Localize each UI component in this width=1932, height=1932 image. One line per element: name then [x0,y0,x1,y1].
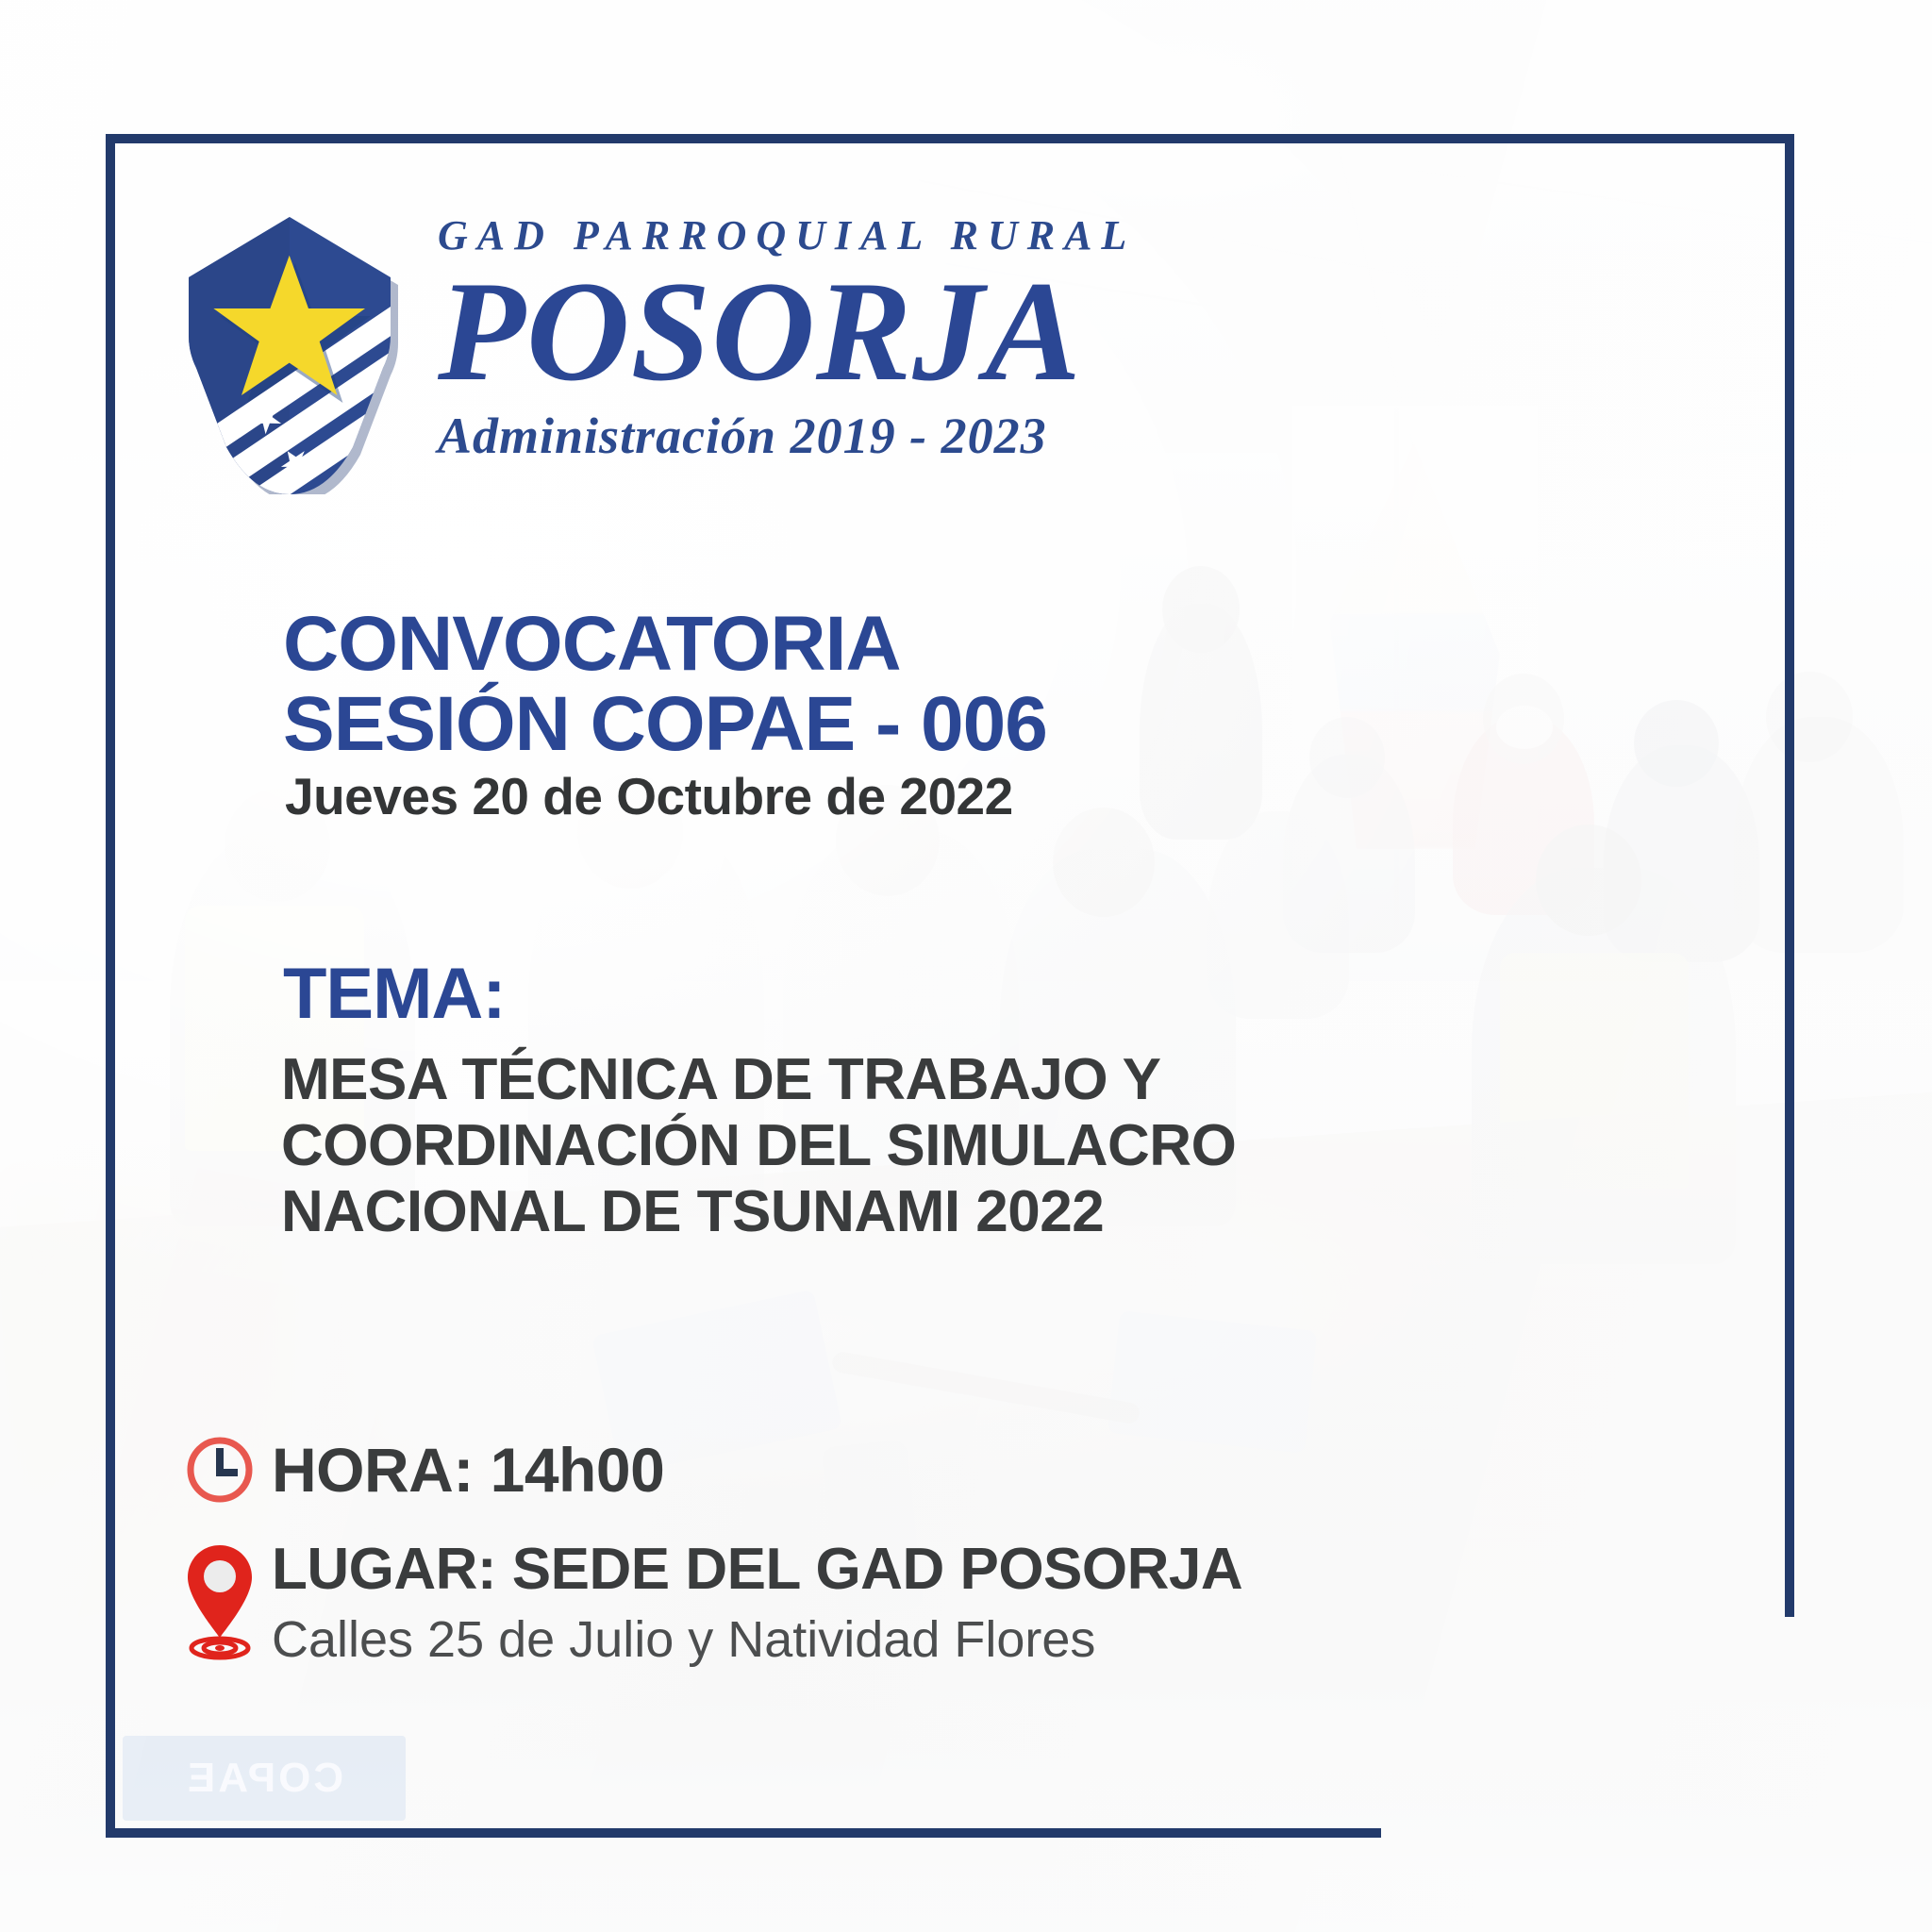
event-date: Jueves 20 de Octubre de 2022 [285,766,1013,826]
event-time-text: HORA: 14h00 [272,1434,664,1506]
topic-line-1: MESA TÉCNICA DE TRABAJO Y [281,1047,1236,1113]
clock-icon [185,1435,255,1505]
logo-line-sub: Administración 2019 - 2023 [438,407,1136,465]
topic-text: MESA TÉCNICA DE TRABAJO Y COORDINACIÓN D… [281,1047,1236,1245]
event-place-address: Calles 25 de Julio y Natividad Flores [272,1610,1242,1669]
topic-line-2: COORDINACIÓN DEL SIMULACRO [281,1113,1236,1179]
event-time-row: HORA: 14h00 [185,1434,664,1506]
event-place-texts: LUGAR: SEDE DEL GAD POSORJA Calles 25 de… [272,1536,1242,1669]
logo-wordmark: GAD PARROQUIAL RURAL POSORJA Administrac… [438,198,1136,465]
topic-label: TEMA: [283,953,506,1035]
shield-star-icon [168,211,411,494]
event-place-row: LUGAR: SEDE DEL GAD POSORJA Calles 25 de… [185,1536,1242,1669]
title-line-2: SESIÓN COPAE - 006 [283,684,1047,764]
poster-content: GAD PARROQUIAL RURAL POSORJA Administrac… [0,0,1932,1932]
poster-canvas: COPAE [0,0,1932,1932]
topic-line-3: NACIONAL DE TSUNAMI 2022 [281,1179,1236,1245]
event-place-text: LUGAR: SEDE DEL GAD POSORJA [272,1536,1242,1603]
page-title: CONVOCATORIA SESIÓN COPAE - 006 [283,604,1047,765]
title-line-1: CONVOCATORIA [283,601,901,687]
location-pin-icon [185,1541,255,1660]
organization-logo: GAD PARROQUIAL RURAL POSORJA Administrac… [168,198,1136,494]
logo-line-main: POSORJA [438,263,1136,401]
